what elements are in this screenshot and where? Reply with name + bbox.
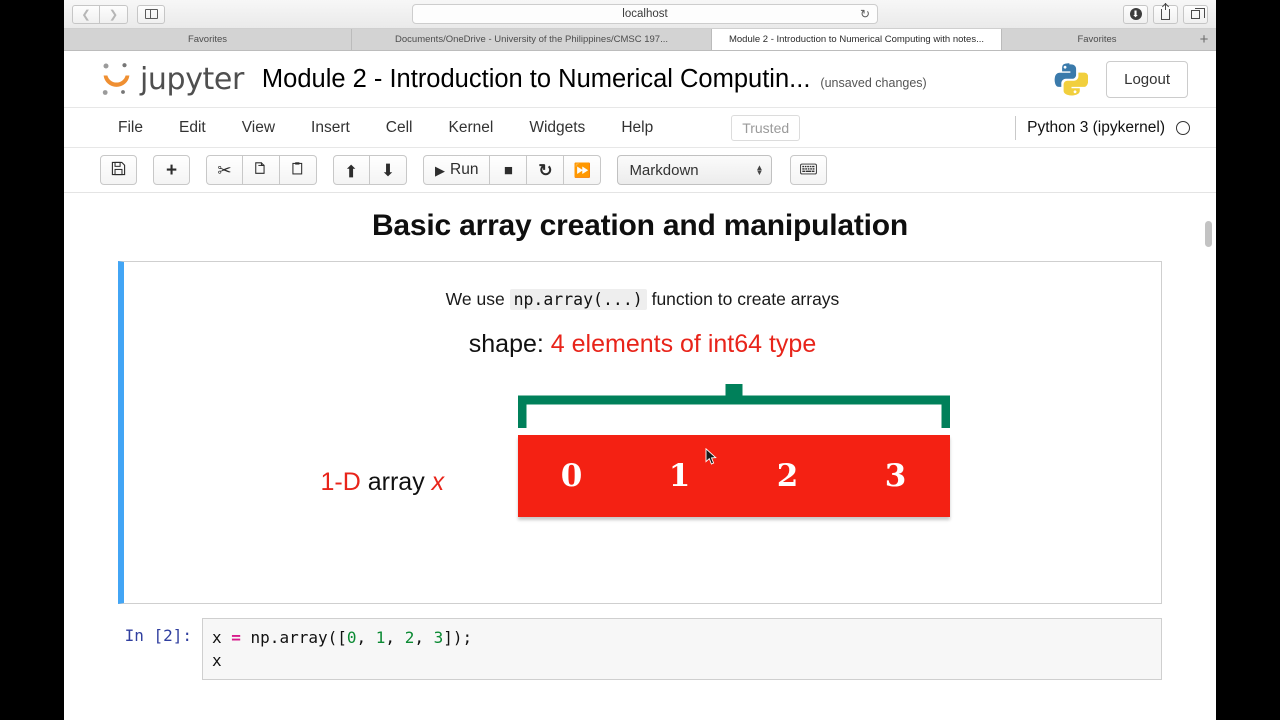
stepper-arrows-icon: ▲▼ — [756, 165, 764, 175]
scissors-icon: ✂ — [217, 162, 231, 179]
browser-tab-favorites-right[interactable]: Favorites — [1002, 29, 1192, 50]
toolbar-group-palette — [790, 155, 827, 185]
interrupt-kernel-button[interactable]: ■ — [490, 155, 527, 185]
reload-icon[interactable]: ↻ — [860, 8, 870, 20]
jupyter-logo-text: jupyter — [140, 62, 244, 97]
tab-overview-icon — [1191, 10, 1200, 19]
menu-edit[interactable]: Edit — [161, 119, 224, 137]
diagram-array-box: 0 1 2 3 — [518, 435, 950, 517]
kernel-idle-circle-icon — [1176, 121, 1190, 135]
browser-window: ❮ ❯ localhost ↻ ⬇ — [64, 0, 1216, 720]
diagram-array-mid: array — [368, 468, 425, 496]
save-button[interactable] — [100, 155, 137, 185]
diagram-array-label: 1-D array x — [321, 468, 445, 497]
tab-overview-button[interactable] — [1183, 5, 1208, 24]
copy-cell-button[interactable] — [243, 155, 280, 185]
code-token: ]); — [443, 628, 472, 647]
diagram-array-cell: 2 — [734, 458, 842, 494]
menu-view[interactable]: View — [224, 119, 293, 137]
mouse-pointer-icon — [705, 448, 717, 466]
code-token-operator: = — [231, 628, 241, 647]
insert-cell-below-button[interactable]: + — [153, 155, 190, 185]
restart-circular-arrow-icon: ↻ — [538, 162, 552, 179]
code-token: np.array([ — [241, 628, 347, 647]
menu-kernel[interactable]: Kernel — [431, 119, 512, 137]
command-palette-button[interactable] — [790, 155, 827, 185]
jupyter-toolbar: + ✂ — [64, 148, 1216, 193]
download-icon: ⬇ — [1130, 8, 1142, 20]
stop-square-icon: ■ — [504, 163, 513, 178]
diagram-array-prefix: 1-D — [321, 468, 361, 496]
arrow-down-icon: ⬇ — [381, 162, 395, 179]
trusted-badge[interactable]: Trusted — [731, 115, 800, 141]
new-tab-button[interactable]: + — [1192, 29, 1216, 50]
share-button[interactable] — [1153, 5, 1178, 24]
forward-button[interactable]: ❯ — [100, 5, 128, 24]
logout-button[interactable]: Logout — [1106, 61, 1188, 98]
chevron-right-icon: ❯ — [109, 8, 118, 21]
diagram-brace-icon — [518, 384, 950, 430]
notebook-scroll-area: Basic array creation and manipulation We… — [64, 193, 1216, 680]
restart-and-run-all-button[interactable]: ⏩ — [564, 155, 601, 185]
menu-insert[interactable]: Insert — [293, 119, 368, 137]
address-bar[interactable]: localhost ↻ — [412, 4, 878, 24]
fast-forward-icon: ⏩ — [574, 163, 591, 177]
menu-file[interactable]: File — [100, 119, 161, 137]
menu-widgets[interactable]: Widgets — [511, 119, 603, 137]
jupyter-menubar: File Edit View Insert Cell Kernel Widget… — [64, 108, 1216, 148]
toolbar-group-save — [100, 155, 137, 185]
letterbox-left — [0, 0, 64, 720]
run-cell-button[interactable]: ▶ Run — [423, 155, 490, 185]
browser-tab-module2[interactable]: Module 2 - Introduction to Numerical Com… — [712, 29, 1002, 50]
array-diagram: shape: 4 elements of int64 type 1-D arra… — [313, 330, 973, 560]
letterbox-right — [1216, 0, 1280, 720]
chevron-left-icon: ❮ — [81, 8, 90, 21]
diagram-shape-caption: shape: 4 elements of int64 type — [313, 330, 973, 359]
browser-toolbar: ❮ ❯ localhost ↻ ⬇ — [64, 0, 1216, 29]
code-token: x — [212, 628, 231, 647]
jupyter-header: jupyter Module 2 - Introduction to Numer… — [64, 51, 1216, 108]
sidebar-toggle-icon — [145, 9, 158, 19]
diagram-array-cell: 0 — [518, 458, 626, 494]
browser-tab-documents[interactable]: Documents/OneDrive - University of the P… — [352, 29, 712, 50]
diagram-array-var: x — [432, 468, 445, 496]
markdown-inline-code: np.array(...) — [510, 289, 647, 310]
back-button[interactable]: ❮ — [72, 5, 100, 24]
move-cell-down-button[interactable]: ⬇ — [370, 155, 407, 185]
menu-cell[interactable]: Cell — [368, 119, 431, 137]
paste-icon — [291, 161, 305, 180]
cut-cell-button[interactable]: ✂ — [206, 155, 243, 185]
diagram-shape-label: shape: — [469, 330, 544, 358]
jupyter-logo[interactable]: jupyter — [100, 61, 244, 97]
markdown-cell[interactable]: We use np.array(...) function to create … — [118, 261, 1162, 604]
restart-kernel-button[interactable]: ↻ — [527, 155, 564, 185]
jupyter-logo-icon — [100, 61, 133, 97]
save-floppy-icon — [111, 161, 126, 180]
browser-tab-favorites-left[interactable]: Favorites — [64, 29, 352, 50]
markdown-text-after: function to create arrays — [652, 289, 840, 309]
toolbar-group-move: ⬇ ⬇ — [333, 155, 407, 185]
save-status: (unsaved changes) — [820, 68, 926, 90]
play-icon: ▶ — [435, 164, 445, 177]
kernel-indicator: Python 3 (ipykernel) — [1015, 116, 1216, 140]
code-token-number: 1 — [376, 628, 386, 647]
address-bar-value: localhost — [622, 8, 667, 20]
code-cell[interactable]: In [2]: x = np.array([0, 1, 2, 3]); x — [118, 618, 1162, 680]
header-right-group: Logout — [1052, 61, 1188, 98]
cell-type-select[interactable]: Markdown ▲▼ — [617, 155, 772, 185]
sidebar-toggle-button[interactable] — [137, 5, 165, 24]
markdown-text-before: We use — [446, 289, 505, 309]
markdown-paragraph: We use np.array(...) function to create … — [124, 262, 1161, 310]
navigation-buttons: ❮ ❯ — [72, 5, 128, 24]
toolbar-group-insert: + — [153, 155, 190, 185]
cell-type-value: Markdown — [629, 162, 698, 179]
diagram-shape-value: 4 elements of int64 type — [551, 330, 816, 358]
python-logo-icon — [1052, 61, 1088, 97]
keyboard-icon — [800, 162, 817, 179]
code-token-number: 0 — [347, 628, 357, 647]
notebook-heading: Basic array creation and manipulation — [110, 209, 1170, 243]
screen: ❮ ❯ localhost ↻ ⬇ — [0, 0, 1280, 720]
notebook-content: Basic array creation and manipulation We… — [110, 193, 1170, 680]
copy-icon — [254, 161, 268, 180]
code-token-number: 3 — [434, 628, 444, 647]
menu-help[interactable]: Help — [603, 119, 671, 137]
share-icon — [1161, 9, 1170, 20]
scrollbar-thumb[interactable] — [1205, 221, 1212, 247]
jupyter-notebook-page: jupyter Module 2 - Introduction to Numer… — [64, 51, 1216, 720]
kernel-name[interactable]: Python 3 (ipykernel) — [1027, 119, 1165, 137]
code-token-number: 2 — [405, 628, 415, 647]
run-button-label: Run — [450, 161, 478, 179]
toolbar-group-run: ▶ Run ■ ↻ ⏩ — [423, 155, 601, 185]
downloads-button[interactable]: ⬇ — [1123, 5, 1148, 24]
notebook-title[interactable]: Module 2 - Introduction to Numerical Com… — [262, 65, 811, 94]
diagram-array-cell: 3 — [842, 458, 950, 494]
tab-strip: Favorites Documents/OneDrive - Universit… — [64, 29, 1216, 51]
kernel-divider — [1015, 116, 1016, 140]
paste-cell-button[interactable] — [280, 155, 317, 185]
code-editor[interactable]: x = np.array([0, 1, 2, 3]); x — [202, 618, 1162, 680]
move-cell-up-button[interactable]: ⬇ — [333, 155, 370, 185]
code-line-2: x — [212, 651, 222, 670]
code-cell-prompt: In [2]: — [118, 618, 202, 645]
vertical-scrollbar[interactable] — [1204, 193, 1214, 680]
diagram-array-cell: 1 — [626, 458, 734, 494]
browser-action-buttons: ⬇ — [1123, 5, 1208, 24]
arrow-up-icon: ⬇ — [344, 162, 358, 179]
toolbar-group-edit: ✂ — [206, 155, 317, 185]
plus-icon: + — [166, 161, 177, 180]
